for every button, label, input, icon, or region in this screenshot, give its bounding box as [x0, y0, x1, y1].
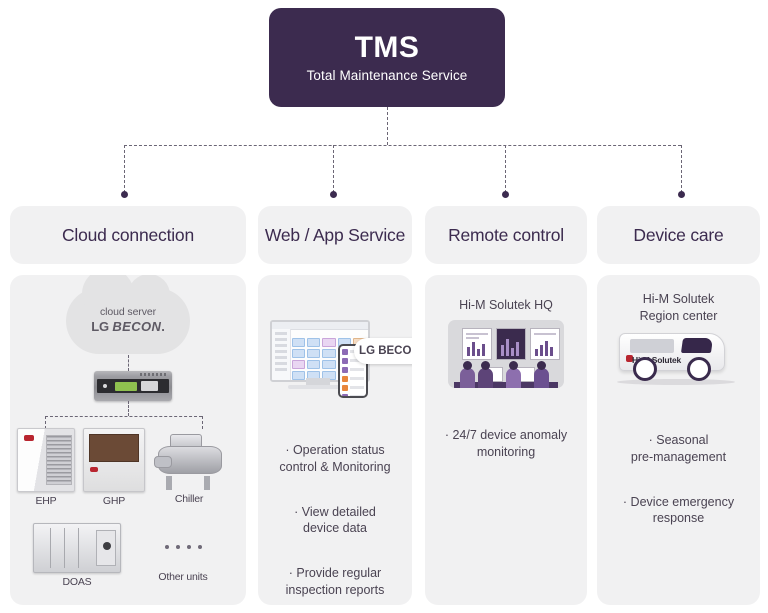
bullet-item: · Provide regular inspection reports [258, 565, 412, 599]
panel-web-app-service: LG BECON. · Operation status control & M… [258, 275, 412, 605]
branch-dot-2 [330, 191, 337, 198]
connector-horizontal-bus [124, 145, 681, 146]
doas-icon [33, 523, 121, 573]
bullet-item: · View detailed device data [258, 504, 412, 538]
column-header-cloud-connection[interactable]: Cloud connection [10, 206, 246, 264]
ellipsis-dots-icon [140, 523, 226, 549]
device-chiller: Chiller [152, 432, 226, 505]
ghp-icon [83, 428, 145, 492]
device-label: EHP [16, 495, 76, 507]
branch-dot-3 [502, 191, 509, 198]
bullet-item: · 24/7 device anomaly monitoring [425, 427, 587, 461]
ehp-icon [17, 428, 75, 492]
chiller-icon [154, 432, 224, 490]
panel-device-care: Hi-M Solutek Region center Hi-M.Solutek … [597, 275, 760, 605]
van-wheel-front-icon [633, 357, 657, 381]
controller-device-icon [94, 371, 172, 401]
web-app-bullets: · Operation status control & Monitoring … [258, 425, 412, 605]
tms-title: TMS [355, 32, 420, 64]
connector-device-chiller [202, 416, 203, 429]
connector-branch-4 [681, 145, 682, 193]
connector-branch-2 [333, 145, 334, 193]
cloud-server-label: cloud server [66, 306, 190, 318]
web-app-illustration: LG BECON. [270, 320, 400, 395]
device-ghp: GHP [82, 428, 146, 507]
operators-icon [448, 362, 564, 388]
device-label: Chiller [152, 493, 226, 505]
device-doas: DOAS [22, 523, 132, 588]
connector-branch-3 [505, 145, 506, 193]
device-label: GHP [82, 495, 146, 507]
connector-trunk-vertical [387, 107, 388, 145]
tms-subtitle: Total Maintenance Service [307, 68, 468, 83]
remote-control-bullets: · 24/7 device anomaly monitoring [425, 410, 587, 478]
connector-controller-down [128, 401, 129, 416]
device-ehp: EHP [16, 428, 76, 507]
device-other-units: Other units [136, 523, 230, 583]
tms-root-card: TMS Total Maintenance Service [269, 8, 505, 107]
bullet-item: · Operation status control & Monitoring [258, 442, 412, 476]
wall-monitors-icon [462, 328, 560, 360]
lg-becon-badge: LG BECON. [354, 338, 412, 364]
column-header-label: Cloud connection [62, 225, 194, 246]
column-header-label: Device care [633, 225, 723, 246]
van-wheel-rear-icon [687, 357, 711, 381]
connector-device-bus [45, 416, 202, 417]
branch-dot-4 [678, 191, 685, 198]
column-header-label: Remote control [448, 225, 564, 246]
column-header-web-app-service[interactable]: Web / App Service [258, 206, 412, 264]
panel-cloud-connection: cloud server LG BECON. EHP [10, 275, 246, 605]
column-header-device-care[interactable]: Device care [597, 206, 760, 264]
bullet-item: · Device emergency response [597, 494, 760, 528]
cloud-server-icon: cloud server LG BECON. [66, 288, 190, 354]
service-van-illustration: Hi-M.Solutek [615, 325, 743, 387]
remote-control-caption: Hi-M Solutek HQ [425, 297, 587, 314]
device-care-bullets: · Seasonal pre-management · Device emerg… [597, 415, 760, 544]
branch-dot-1 [121, 191, 128, 198]
device-care-caption: Hi-M Solutek Region center [597, 291, 760, 325]
column-header-remote-control[interactable]: Remote control [425, 206, 587, 264]
device-label: DOAS [22, 576, 132, 588]
cloud-brand-label: LG BECON. [66, 319, 190, 334]
device-label: Other units [136, 571, 230, 583]
connector-cloud-to-controller [128, 355, 129, 371]
bullet-item: · Seasonal pre-management [597, 432, 760, 466]
column-header-label: Web / App Service [265, 225, 405, 246]
control-room-illustration [448, 320, 564, 388]
connector-branch-1 [124, 145, 125, 193]
panel-remote-control: Hi-M Solutek HQ [425, 275, 587, 605]
